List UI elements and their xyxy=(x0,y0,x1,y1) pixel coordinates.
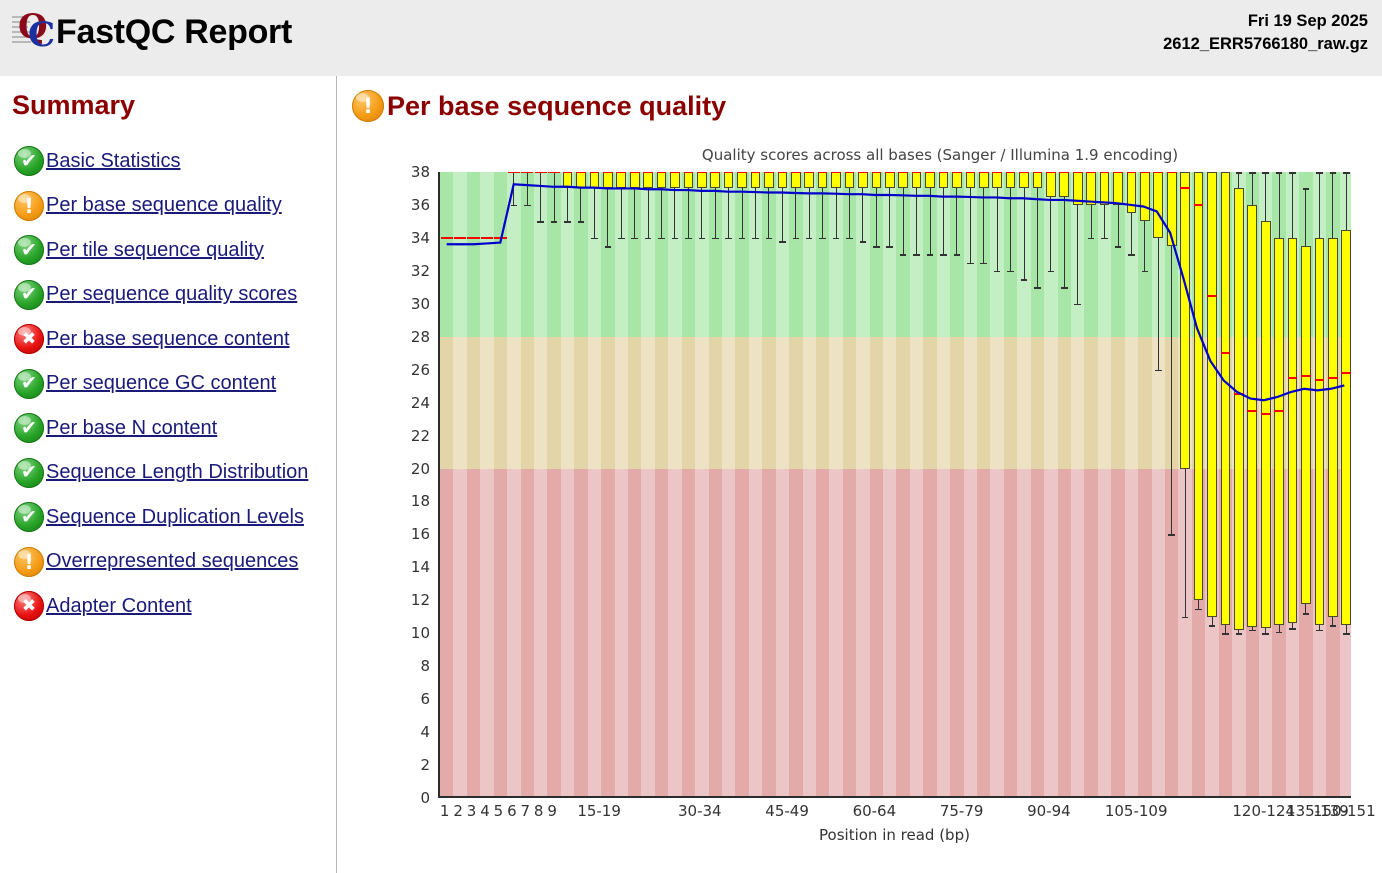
x-axis-tick: 8 xyxy=(534,802,544,820)
warning-circle-icon: ! xyxy=(14,191,44,221)
sidebar-item-label[interactable]: Per sequence GC content xyxy=(46,372,276,395)
y-axis: 02468101214161820222426283032343638 xyxy=(400,146,434,826)
x-axis-tick: 75-79 xyxy=(940,802,984,820)
fastqc-logo-icon: Q C xyxy=(10,8,56,56)
status-glyph: ✔ xyxy=(14,280,44,310)
check-circle-icon: ✔ xyxy=(14,369,44,399)
y-axis-tick: 34 xyxy=(411,229,430,247)
x-axis-label: Position in read (bp) xyxy=(438,826,1351,844)
y-axis-tick: 0 xyxy=(420,789,430,807)
report-filename: 2612_ERR5766180_raw.gz xyxy=(1163,33,1368,56)
y-axis-tick: 38 xyxy=(411,163,430,181)
mean-quality-line xyxy=(440,172,1351,796)
plot-area xyxy=(438,172,1351,798)
sidebar-item-per-base-n-content[interactable]: ✔Per base N content xyxy=(0,406,336,451)
y-axis-tick: 32 xyxy=(411,262,430,280)
status-glyph: ✔ xyxy=(14,502,44,532)
status-glyph: ✔ xyxy=(14,235,44,265)
x-axis-tick: 4 xyxy=(480,802,490,820)
check-circle-icon: ✔ xyxy=(14,458,44,488)
x-axis-tick: 105-109 xyxy=(1105,802,1168,820)
y-axis-tick: 30 xyxy=(411,295,430,313)
sidebar-item-per-base-sequence-content[interactable]: ✖Per base sequence content xyxy=(0,317,336,362)
check-circle-icon: ✔ xyxy=(14,235,44,265)
summary-module-list: ✔Basic Statistics!Per base sequence qual… xyxy=(0,139,336,629)
x-axis: 12345678915-1930-3445-4960-6475-7990-941… xyxy=(438,802,1351,826)
page-title: FastQC Report xyxy=(56,8,292,56)
sidebar-item-sequence-length-distribution[interactable]: ✔Sequence Length Distribution xyxy=(0,451,336,496)
sidebar-title: Summary xyxy=(12,90,336,121)
x-axis-tick: 7 xyxy=(520,802,530,820)
header-metadata: Fri 19 Sep 2025 2612_ERR5766180_raw.gz xyxy=(1163,10,1368,56)
y-axis-tick: 36 xyxy=(411,196,430,214)
sidebar-item-label[interactable]: Overrepresented sequences xyxy=(46,550,298,573)
sidebar-item-sequence-duplication-levels[interactable]: ✔Sequence Duplication Levels xyxy=(0,495,336,540)
sidebar-item-per-sequence-quality-scores[interactable]: ✔Per sequence quality scores xyxy=(0,273,336,318)
y-axis-tick: 26 xyxy=(411,361,430,379)
x-axis-tick: 1 xyxy=(440,802,450,820)
sidebar-item-label[interactable]: Per base N content xyxy=(46,417,217,440)
sidebar-item-overrepresented-sequences[interactable]: !Overrepresented sequences xyxy=(0,540,336,585)
sidebar-item-label[interactable]: Basic Statistics xyxy=(46,150,180,173)
x-axis-tick: 6 xyxy=(507,802,517,820)
status-glyph: ✔ xyxy=(14,413,44,443)
sidebar-item-label[interactable]: Per tile sequence quality xyxy=(46,239,264,262)
logo-letter-c: C xyxy=(28,18,55,52)
sidebar-item-adapter-content[interactable]: ✖Adapter Content xyxy=(0,584,336,629)
y-axis-tick: 28 xyxy=(411,328,430,346)
error-circle-icon: ✖ xyxy=(14,324,44,354)
x-axis-tick: 45-49 xyxy=(765,802,809,820)
sidebar-item-per-base-sequence-quality[interactable]: !Per base sequence quality xyxy=(0,184,336,229)
y-axis-tick: 6 xyxy=(420,690,430,708)
check-circle-icon: ✔ xyxy=(14,146,44,176)
check-circle-icon: ✔ xyxy=(14,502,44,532)
x-axis-tick: 9 xyxy=(547,802,557,820)
status-glyph: ✔ xyxy=(14,146,44,176)
check-circle-icon: ✔ xyxy=(14,280,44,310)
check-circle-icon: ✔ xyxy=(14,413,44,443)
report-date: Fri 19 Sep 2025 xyxy=(1163,10,1368,33)
y-axis-tick: 24 xyxy=(411,394,430,412)
x-axis-tick: 60-64 xyxy=(853,802,897,820)
y-axis-tick: 16 xyxy=(411,525,430,543)
content-area: Summary ✔Basic Statistics!Per base seque… xyxy=(0,76,1382,873)
status-glyph: ! xyxy=(14,191,44,221)
sidebar-item-per-sequence-gc-content[interactable]: ✔Per sequence GC content xyxy=(0,362,336,407)
sidebar-item-label[interactable]: Adapter Content xyxy=(46,595,192,618)
summary-sidebar: Summary ✔Basic Statistics!Per base seque… xyxy=(0,76,337,873)
sidebar-item-label[interactable]: Per base sequence content xyxy=(46,328,290,351)
status-glyph: ✔ xyxy=(14,458,44,488)
x-axis-tick: 15-19 xyxy=(577,802,621,820)
module-status-glyph: ! xyxy=(352,90,384,122)
module-heading: ! Per base sequence quality xyxy=(352,90,1382,122)
y-axis-tick: 10 xyxy=(411,624,430,642)
status-glyph: ✖ xyxy=(14,324,44,354)
warning-circle-icon: ! xyxy=(352,90,384,122)
y-axis-tick: 2 xyxy=(420,756,430,774)
sidebar-item-label[interactable]: Per sequence quality scores xyxy=(46,283,297,306)
y-axis-tick: 20 xyxy=(411,460,430,478)
sidebar-item-per-tile-sequence-quality[interactable]: ✔Per tile sequence quality xyxy=(0,228,336,273)
chart-title: Quality scores across all bases (Sanger … xyxy=(400,146,1360,164)
y-axis-tick: 12 xyxy=(411,591,430,609)
sidebar-item-label[interactable]: Per base sequence quality xyxy=(46,194,282,217)
y-axis-tick: 18 xyxy=(411,492,430,510)
x-axis-tick: 2 xyxy=(453,802,463,820)
y-axis-tick: 22 xyxy=(411,427,430,445)
x-axis-tick: 3 xyxy=(467,802,477,820)
status-glyph: ✖ xyxy=(14,591,44,621)
sidebar-item-label[interactable]: Sequence Duplication Levels xyxy=(46,506,304,529)
status-glyph: ✔ xyxy=(14,369,44,399)
warning-circle-icon: ! xyxy=(14,547,44,577)
sidebar-item-label[interactable]: Sequence Length Distribution xyxy=(46,461,308,484)
sidebar-item-basic-statistics[interactable]: ✔Basic Statistics xyxy=(0,139,336,184)
y-axis-tick: 4 xyxy=(420,723,430,741)
main-panel: ! Per base sequence quality Quality scor… xyxy=(338,76,1382,873)
per-base-quality-chart: Quality scores across all bases (Sanger … xyxy=(400,146,1360,858)
logo-and-title: Q C FastQC Report xyxy=(10,8,292,56)
x-axis-tick: 30-34 xyxy=(678,802,722,820)
module-title: Per base sequence quality xyxy=(387,91,726,122)
x-axis-tick: 5 xyxy=(494,802,504,820)
status-glyph: ! xyxy=(14,547,44,577)
x-axis-tick: 90-94 xyxy=(1027,802,1071,820)
y-axis-tick: 8 xyxy=(420,657,430,675)
report-header: Q C FastQC Report Fri 19 Sep 2025 2612_E… xyxy=(0,0,1382,76)
x-axis-tick: 150-151 xyxy=(1313,802,1376,820)
error-circle-icon: ✖ xyxy=(14,591,44,621)
y-axis-tick: 14 xyxy=(411,558,430,576)
